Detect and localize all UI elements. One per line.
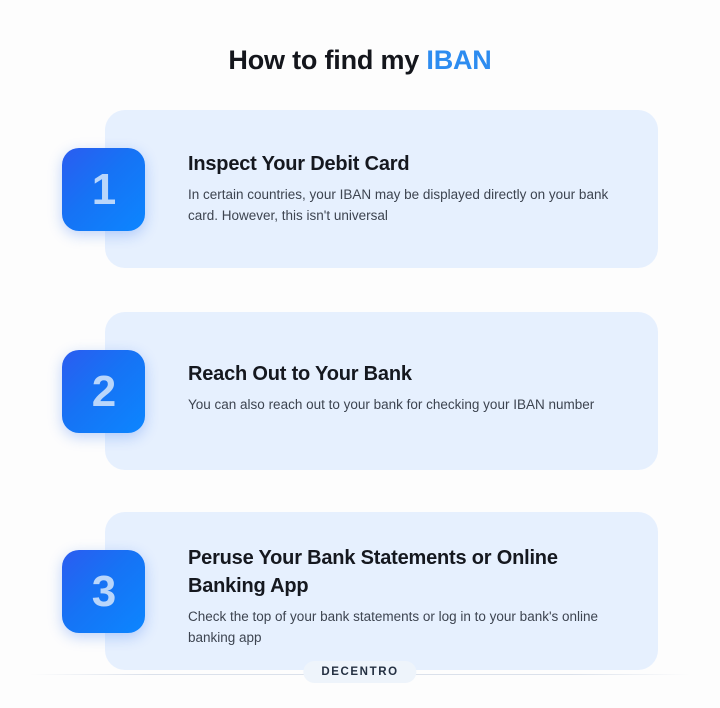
step-number-2: 2	[92, 370, 115, 414]
step-content-2: Reach Out to Your Bank You can also reac…	[188, 360, 638, 416]
page-title-container: How to find my IBAN	[0, 44, 720, 76]
step-item-2: 2 Reach Out to Your Bank You can also re…	[0, 312, 720, 490]
step-content-1: Inspect Your Debit Card In certain count…	[188, 150, 638, 227]
step-heading-1: Inspect Your Debit Card	[188, 150, 638, 178]
step-heading-2: Reach Out to Your Bank	[188, 360, 638, 388]
step-body-1: In certain countries, your IBAN may be d…	[188, 185, 626, 227]
steps-list: 1 Inspect Your Debit Card In certain cou…	[0, 110, 720, 704]
iban-infographic: How to find my IBAN 1 Inspect Your Debit…	[0, 0, 720, 708]
page-title-prefix: How to find my	[228, 45, 426, 75]
step-item-1: 1 Inspect Your Debit Card In certain cou…	[0, 110, 720, 290]
step-number-badge-2: 2	[62, 350, 145, 433]
step-number-badge-1: 1	[62, 148, 145, 231]
step-number-1: 1	[92, 168, 115, 212]
step-number-badge-3: 3	[62, 550, 145, 633]
footer: DECENTRO	[0, 654, 720, 694]
step-body-2: You can also reach out to your bank for …	[188, 395, 626, 416]
decentro-logo: DECENTRO	[303, 661, 416, 683]
page-title-accent: IBAN	[426, 45, 491, 75]
step-content-3: Peruse Your Bank Statements or Online Ba…	[188, 544, 638, 649]
step-heading-3: Peruse Your Bank Statements or Online Ba…	[188, 544, 638, 600]
step-number-3: 3	[92, 570, 115, 614]
step-body-3: Check the top of your bank statements or…	[188, 607, 626, 649]
page-title: How to find my IBAN	[0, 44, 720, 76]
